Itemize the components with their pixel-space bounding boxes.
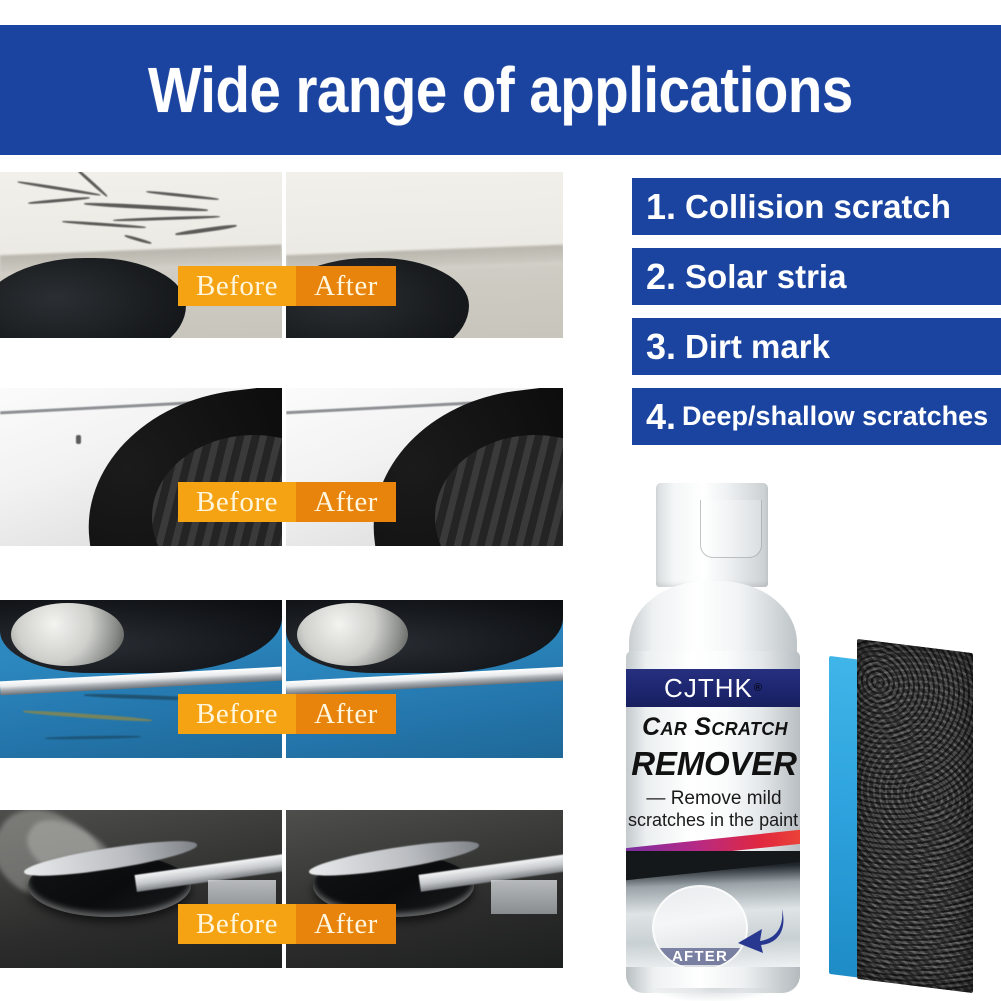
after-photo: [282, 810, 564, 968]
abrasive-sponge: [829, 646, 977, 986]
brand-name: CJTHK: [664, 673, 753, 704]
after-label: After: [296, 904, 396, 944]
after-label: After: [296, 266, 396, 306]
product-marketing-image: Wide range of applications: [0, 0, 1001, 1001]
cap-flip-tab: [700, 500, 762, 558]
application-label: Deep/shallow scratches: [682, 403, 988, 430]
application-label: Dirt mark: [685, 330, 830, 363]
after-photo: [282, 388, 564, 546]
product-name-line1: Car Scratch: [636, 715, 794, 740]
label-photo: AFTER: [626, 851, 800, 967]
before-after-row: Before After: [0, 600, 563, 758]
after-label: After: [296, 482, 396, 522]
after-photo: [282, 600, 564, 758]
before-label: Before: [178, 482, 296, 522]
before-after-row: Before After: [0, 810, 563, 968]
product-name-line2: REMOVER: [630, 747, 798, 780]
brand-band: CJTHK®: [626, 669, 800, 707]
before-label: Before: [178, 904, 296, 944]
application-number: 1.: [646, 189, 676, 225]
application-item-2: 2. Solar stria: [632, 248, 1001, 305]
after-photo: [282, 172, 564, 338]
after-label: After: [296, 694, 396, 734]
before-photo: [0, 600, 282, 758]
before-photo: [0, 172, 282, 338]
before-after-tag: Before After: [178, 904, 396, 944]
curved-arrow-icon: [732, 907, 786, 953]
application-item-1: 1. Collision scratch: [632, 178, 1001, 235]
bottle-body: CJTHK® Car Scratch REMOVER — Remove mild…: [626, 651, 800, 993]
product-tagline-line2: scratches in the paint: [628, 811, 798, 829]
product-tagline-line1: — Remove mild: [630, 789, 798, 808]
header-banner: Wide range of applications: [0, 25, 1001, 155]
bottle-cap: [656, 483, 768, 587]
application-number: 4.: [646, 399, 676, 435]
page-title: Wide range of applications: [148, 53, 853, 127]
application-label: Collision scratch: [685, 190, 951, 223]
before-after-tag: Before After: [178, 482, 396, 522]
before-after-tag: Before After: [178, 266, 396, 306]
before-photo: [0, 810, 282, 968]
application-number: 2.: [646, 259, 676, 295]
before-after-row: Before After: [0, 388, 563, 546]
before-photo: [0, 388, 282, 546]
before-label: Before: [178, 694, 296, 734]
before-after-gallery: Before After: [0, 168, 575, 983]
before-label: Before: [178, 266, 296, 306]
before-after-tag: Before After: [178, 694, 396, 734]
application-item-3: 3. Dirt mark: [632, 318, 1001, 375]
sponge-abrasive-face: [857, 639, 973, 993]
registered-mark-icon: ®: [754, 682, 762, 694]
bottle-reflection: [651, 988, 775, 1001]
application-number: 3.: [646, 329, 676, 365]
applications-list: 1. Collision scratch 2. Solar stria 3. D…: [632, 178, 1001, 445]
application-item-4: 4. Deep/shallow scratches: [632, 388, 1001, 445]
product-bottle: CJTHK® Car Scratch REMOVER — Remove mild…: [623, 483, 803, 993]
application-label: Solar stria: [685, 260, 846, 293]
before-after-row: Before After: [0, 172, 563, 338]
